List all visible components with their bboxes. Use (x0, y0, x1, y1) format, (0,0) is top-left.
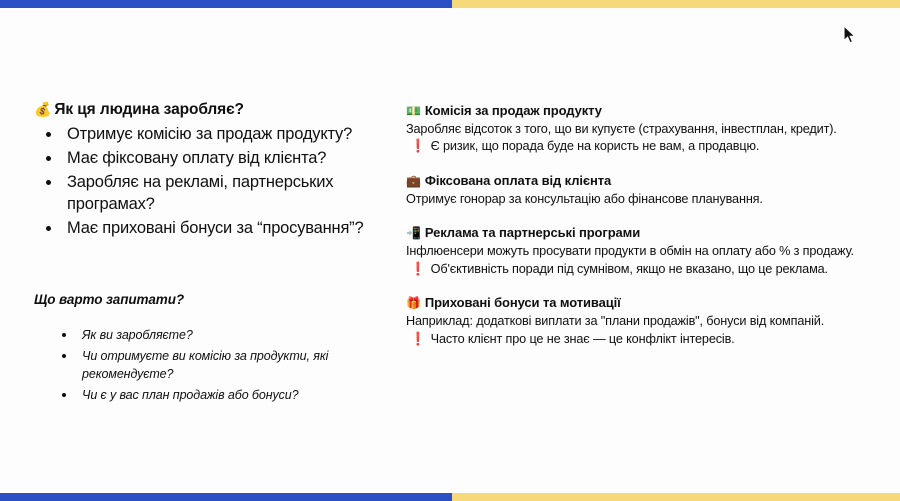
ask-section-heading: Що варто запитати? (34, 292, 400, 307)
section-title: 💼Фіксована оплата від клієнта (406, 173, 870, 190)
top-bar-yellow-segment (452, 0, 900, 8)
left-heading-text: Як ця людина заробляє? (54, 101, 244, 118)
ask-questions-list: Як ви заробляєте? Чи отримуєте ви комісі… (34, 326, 400, 405)
list-item: Як ви заробляєте? (34, 326, 400, 344)
section-warning-text: Часто клієнт про це не знає — це конфлік… (431, 332, 735, 346)
section-commission: 💵Комісія за продаж продукту Заробляє від… (406, 103, 870, 156)
section-fixed-fee: 💼Фіксована оплата від клієнта Отримує го… (406, 173, 870, 208)
section-warning: ❗Є ризик, що порада буде на користь не в… (406, 138, 856, 156)
gift-box-icon: 🎁 (406, 296, 421, 310)
list-item: Чи є у вас план продажів або бонуси? (34, 386, 400, 404)
section-title: 💵Комісія за продаж продукту (406, 103, 870, 120)
section-body: Отримує гонорар за консультацію або фіна… (406, 191, 861, 209)
slide-content: 💰Як ця людина заробляє? Отримує комісію … (0, 8, 900, 493)
top-accent-bar (0, 0, 900, 8)
list-item: Отримує комісію за продаж продукту? (34, 123, 400, 146)
section-warning: ❗Об'єктивність поради під сумнівом, якщо… (406, 261, 856, 279)
list-item: Має приховані бонуси за “просування”? (34, 217, 400, 240)
list-item: Має фіксовану оплату від клієнта? (34, 147, 400, 170)
section-body: Заробляє відсоток з того, що ви купуєте … (406, 121, 861, 139)
section-title-text: Фіксована оплата від клієнта (425, 173, 611, 188)
bottom-bar-yellow-segment (452, 493, 900, 501)
top-bar-blue-segment (0, 0, 452, 8)
right-column: 💵Комісія за продаж продукту Заробляє від… (400, 8, 870, 407)
list-item: Заробляє на рекламі, партнерських програ… (34, 171, 400, 217)
section-hidden-bonuses: 🎁Приховані бонуси та мотивації Наприклад… (406, 295, 870, 348)
briefcase-icon: 💼 (406, 174, 421, 188)
section-title-text: Приховані бонуси та мотивації (425, 295, 621, 310)
banknote-icon: 💵 (406, 104, 421, 118)
list-item: Чи отримуєте ви комісію за продукти, які… (34, 347, 400, 383)
bottom-bar-blue-segment (0, 493, 452, 501)
exclamation-icon: ❗ (410, 139, 426, 153)
section-body: Наприклад: додаткові виплати за "плани п… (406, 313, 861, 331)
exclamation-icon: ❗ (410, 332, 426, 346)
mobile-phone-arrow-icon: 📲 (406, 226, 421, 240)
section-title-text: Комісія за продаж продукту (425, 103, 602, 118)
section-warning-text: Є ризик, що порада буде на користь не ва… (431, 139, 760, 153)
two-column-layout: 💰Як ця людина заробляє? Отримує комісію … (0, 8, 900, 407)
section-warning-text: Об'єктивність поради під сумнівом, якщо … (431, 262, 828, 276)
section-title: 📲Реклама та партнерські програми (406, 225, 870, 242)
money-bag-icon: 💰 (34, 101, 51, 117)
section-body: Інфлюенсери можуть просувати продукти в … (406, 243, 861, 261)
left-column: 💰Як ця людина заробляє? Отримує комісію … (0, 8, 400, 407)
bottom-accent-bar (0, 493, 900, 501)
earning-questions-list: Отримує комісію за продаж продукту? Має … (34, 123, 400, 240)
section-title: 🎁Приховані бонуси та мотивації (406, 295, 870, 312)
exclamation-icon: ❗ (410, 262, 426, 276)
section-title-text: Реклама та партнерські програми (425, 225, 640, 240)
section-warning: ❗Часто клієнт про це не знає — це конфлі… (406, 331, 856, 349)
left-heading: 💰Як ця людина заробляє? (34, 100, 400, 120)
section-advertising: 📲Реклама та партнерські програми Інфлюен… (406, 225, 870, 278)
